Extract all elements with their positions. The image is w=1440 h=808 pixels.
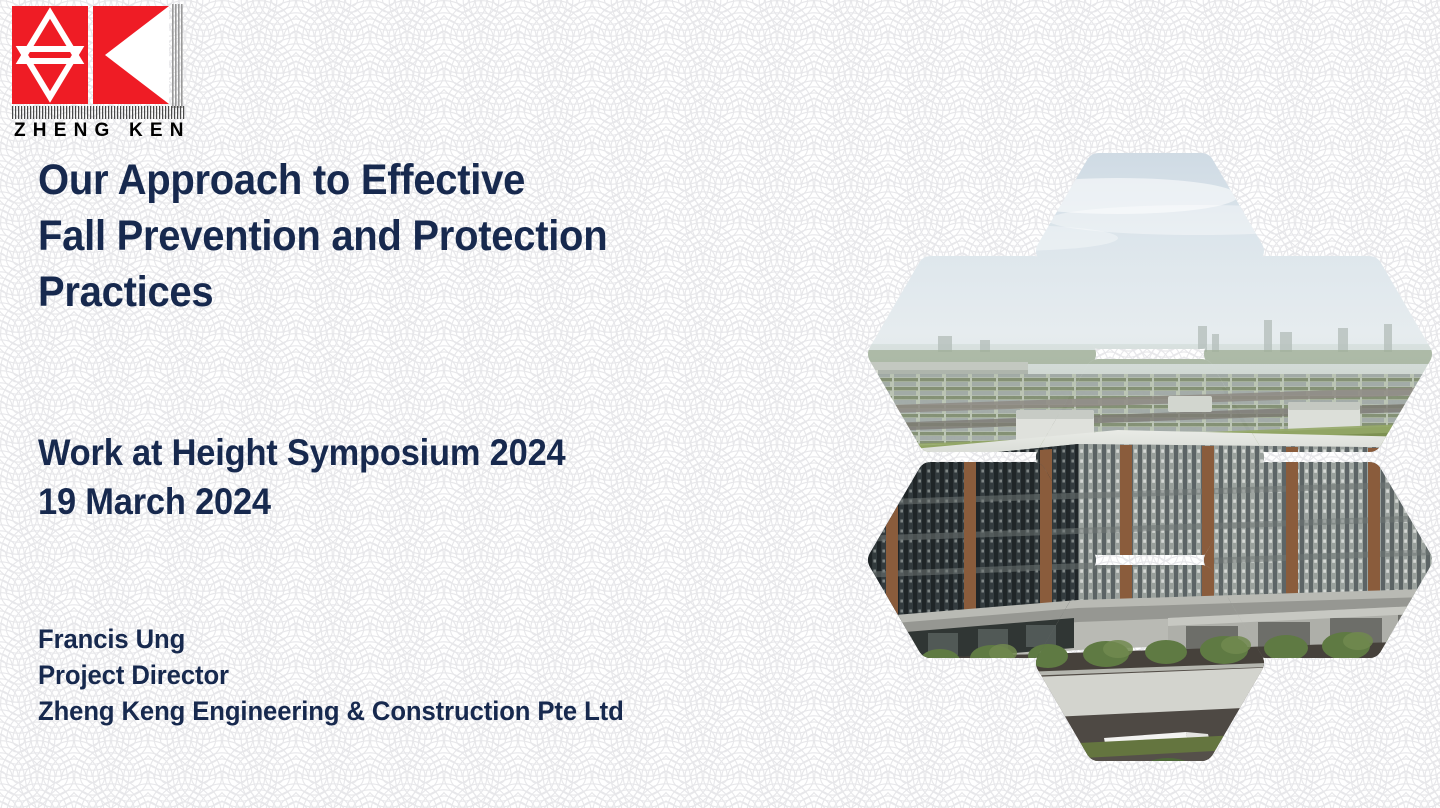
barcode-icon	[12, 106, 184, 119]
logo-mark-s	[12, 6, 88, 104]
page-title: Our Approach to Effective Fall Preventio…	[38, 152, 828, 320]
zheng-keng-logo: ZHENG KENG	[8, 2, 188, 140]
presenter-role: Project Director	[38, 657, 827, 693]
logo-wordmark: ZHENG KENG	[14, 120, 188, 140]
event-name: Work at Height Symposium 2024	[38, 428, 773, 477]
title-line-1: Our Approach to Effective	[38, 152, 773, 208]
title-line-3: Practices	[38, 264, 773, 320]
logo-mark-k	[93, 6, 169, 104]
event-date: 19 March 2024	[38, 477, 773, 526]
presenter-name: Francis Ung	[38, 621, 827, 657]
title-line-2: Fall Prevention and Protection	[38, 208, 773, 264]
hexagon-photo-cluster	[868, 148, 1434, 768]
logo-edge-lines	[172, 4, 183, 108]
presenter-details: Francis Ung Project Director Zheng Keng …	[38, 621, 868, 729]
presentation-slide: ZHENG KENG Our Approach to Effective Fal…	[0, 0, 1440, 808]
event-details: Work at Height Symposium 2024 19 March 2…	[38, 428, 828, 526]
presenter-company: Zheng Keng Engineering & Construction Pt…	[38, 693, 827, 729]
